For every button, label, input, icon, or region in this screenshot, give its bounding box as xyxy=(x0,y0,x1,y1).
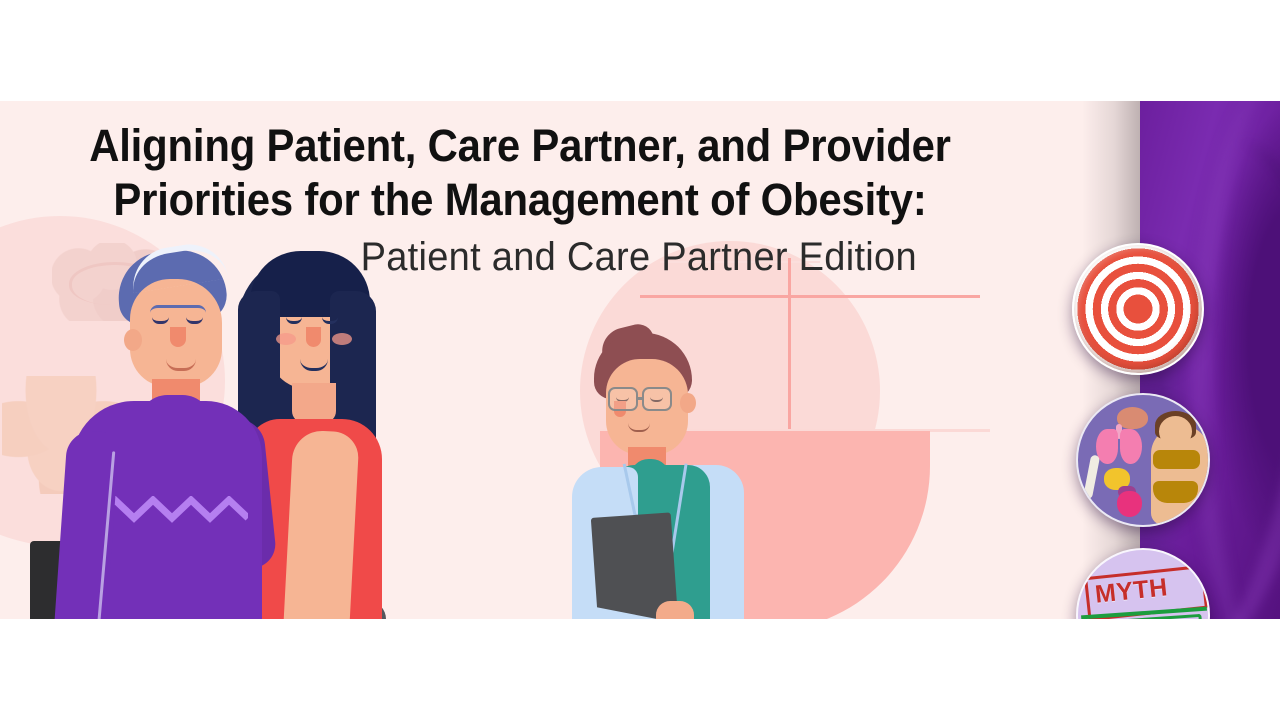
provider-glasses-bridge xyxy=(638,397,644,400)
banner-title-block: Aligning Patient, Care Partner, and Prov… xyxy=(0,101,1040,281)
provider-hand xyxy=(656,601,694,619)
title-line-1: Aligning Patient, Care Partner, and Prov… xyxy=(36,119,1003,173)
patient-nose xyxy=(306,327,321,347)
obesity-body-organs-icon[interactable] xyxy=(1076,393,1210,527)
woman-briefs xyxy=(1153,481,1197,503)
hero-banner: Aligning Patient, Care Partner, and Prov… xyxy=(0,101,1280,619)
woman-bra xyxy=(1153,450,1200,470)
provider-ear xyxy=(680,393,696,413)
care-partner-ear xyxy=(124,329,142,351)
care-partner-sweater-zigzag xyxy=(96,496,248,526)
woman-head xyxy=(1159,416,1193,447)
lung-right-icon xyxy=(1120,429,1142,464)
banner-subtitle: Patient and Care Partner Edition xyxy=(26,233,1014,281)
provider-glasses-lens-left xyxy=(608,387,638,411)
bone-icon xyxy=(1083,454,1100,499)
patient-neck xyxy=(292,383,336,423)
patient-arm xyxy=(282,429,359,619)
heart-icon xyxy=(1117,491,1142,517)
target-icon[interactable] xyxy=(1072,243,1204,375)
title-line-2: Priorities for the Management of Obesity… xyxy=(36,173,1003,227)
provider-glasses-lens-right xyxy=(642,387,672,411)
care-partner-nose xyxy=(170,327,186,347)
care-partner-brow xyxy=(150,305,206,313)
patient-cheek-right xyxy=(332,333,352,345)
patient-cheek-left xyxy=(276,333,296,345)
